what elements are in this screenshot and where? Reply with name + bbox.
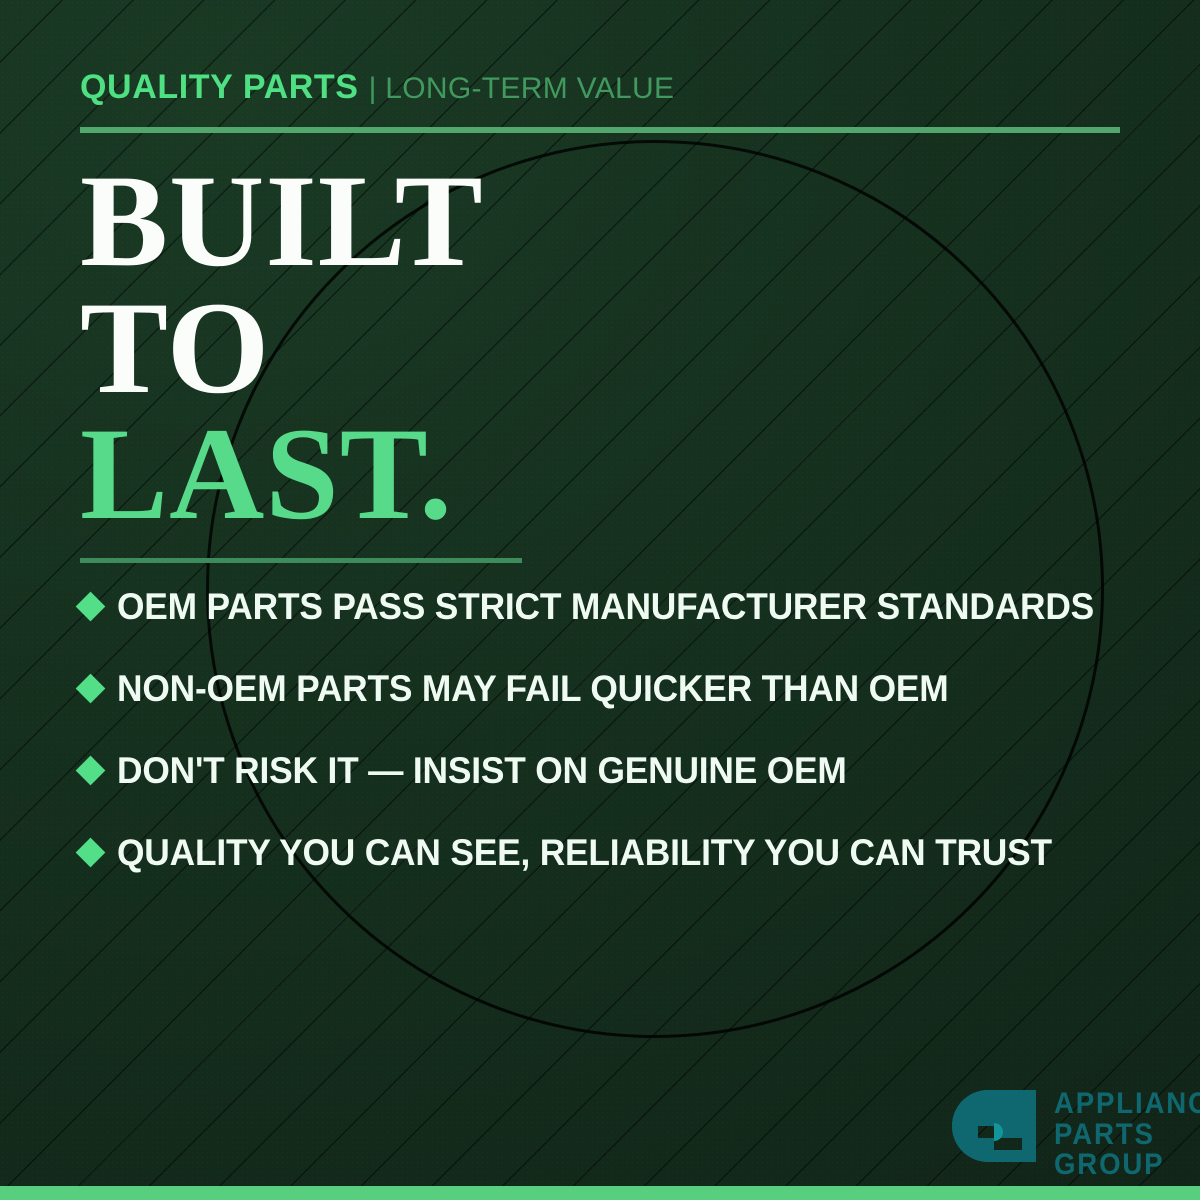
header-divider-rule bbox=[80, 127, 1120, 133]
headline-divider-rule bbox=[80, 558, 522, 563]
bottom-accent-bar bbox=[0, 1186, 1200, 1200]
brand-logo: APPLIANCE PARTS GROUP bbox=[948, 1086, 1200, 1182]
list-item-label: NON-OEM PARTS MAY FAIL QUICKER THAN OEM bbox=[117, 668, 948, 710]
headline-line-1: BUILT bbox=[80, 158, 484, 285]
diamond-bullet-icon bbox=[76, 591, 106, 621]
benefit-list: OEM PARTS PASS STRICT MANUFACTURER STAND… bbox=[80, 586, 1150, 874]
brand-word-line-3: GROUP bbox=[1054, 1150, 1200, 1181]
diamond-bullet-icon bbox=[76, 755, 106, 785]
list-item: NON-OEM PARTS MAY FAIL QUICKER THAN OEM bbox=[80, 668, 1150, 710]
header-kicker: QUALITY PARTS | LONG-TERM VALUE bbox=[80, 68, 674, 107]
headline-line-2: TO bbox=[80, 285, 484, 412]
kicker-main-text: QUALITY PARTS bbox=[80, 68, 359, 107]
brand-word-line-2: PARTS bbox=[1054, 1120, 1200, 1151]
kicker-sub-text: | LONG-TERM VALUE bbox=[369, 72, 675, 106]
list-item-label: DON'T RISK IT — INSIST ON GENUINE OEM bbox=[117, 750, 847, 792]
list-item: QUALITY YOU CAN SEE, RELIABILITY YOU CAN… bbox=[80, 832, 1150, 874]
list-item: DON'T RISK IT — INSIST ON GENUINE OEM bbox=[80, 750, 1150, 792]
list-item: OEM PARTS PASS STRICT MANUFACTURER STAND… bbox=[80, 586, 1150, 628]
diamond-bullet-icon bbox=[76, 673, 106, 703]
headline-block: BUILT TO LAST. bbox=[80, 158, 484, 538]
g-monogram-icon bbox=[948, 1086, 1040, 1182]
list-item-label: QUALITY YOU CAN SEE, RELIABILITY YOU CAN… bbox=[117, 832, 1052, 874]
brand-word-line-1: APPLIANCE bbox=[1054, 1089, 1200, 1120]
brand-logo-wordmark: APPLIANCE PARTS GROUP bbox=[1054, 1086, 1200, 1181]
poster-canvas: QUALITY PARTS | LONG-TERM VALUE BUILT TO… bbox=[0, 0, 1200, 1200]
list-item-label: OEM PARTS PASS STRICT MANUFACTURER STAND… bbox=[117, 586, 1094, 628]
headline-line-3: LAST. bbox=[80, 411, 484, 538]
diamond-bullet-icon bbox=[76, 837, 106, 867]
